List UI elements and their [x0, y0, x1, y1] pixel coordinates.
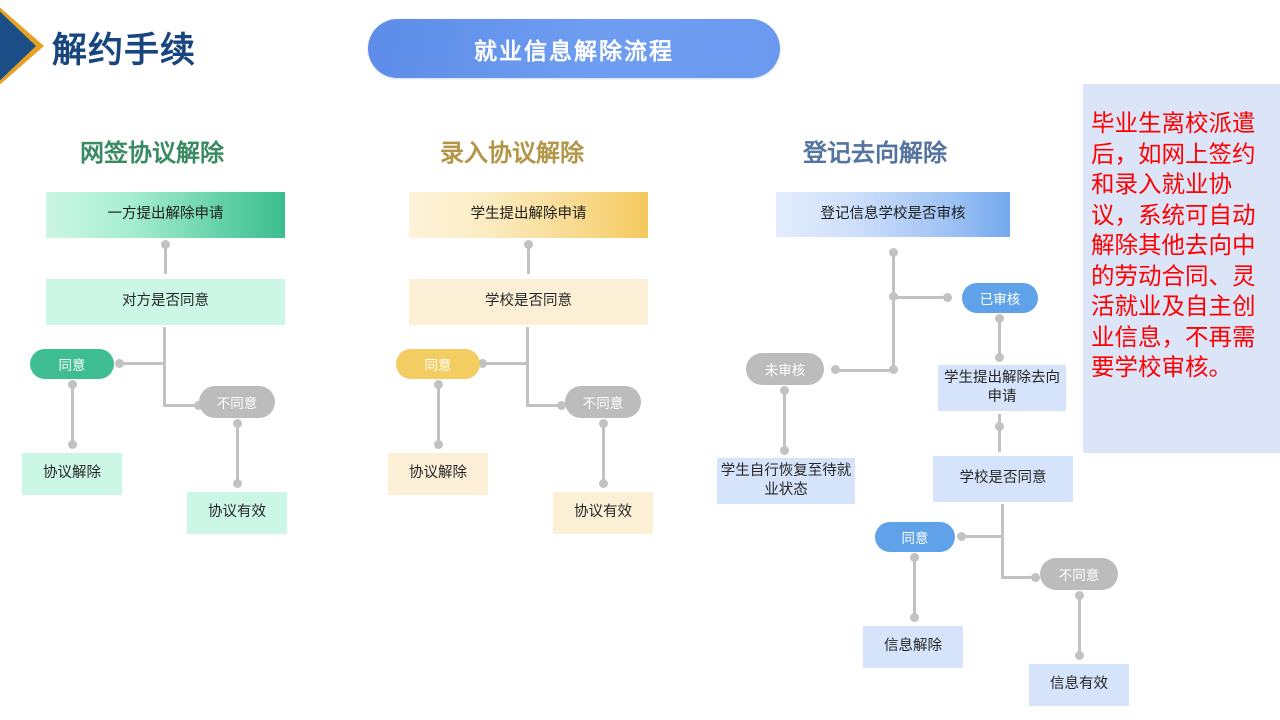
connector-dengji-disagree-down — [1078, 594, 1081, 656]
connector-dot — [161, 240, 170, 249]
node-wangqian-disagree: 不同意 — [199, 386, 275, 418]
connector-luru-agree — [483, 362, 528, 365]
node-dengji-reviewed: 已审核 — [962, 283, 1038, 313]
column-title-luru: 录入协议解除 — [440, 133, 584, 168]
connector-dot — [957, 532, 966, 541]
connector-luru-disagree-down — [602, 422, 605, 484]
node-wangqian-agree: 同意 — [30, 349, 114, 379]
node-luru-agree-result: 协议解除 — [388, 453, 488, 495]
node-dengji-apply: 学生提出解除去向申请 — [938, 365, 1066, 411]
connector-dot — [524, 240, 533, 249]
node-dengji-start: 登记信息学校是否审核 — [776, 192, 1010, 237]
node-wangqian-start: 一方提出解除申请 — [46, 192, 285, 238]
node-dengji-not-reviewed-result: 学生自行恢复至待就业状态 — [717, 458, 855, 504]
connector-dot — [995, 353, 1004, 362]
node-luru-decision: 学校是否同意 — [409, 279, 648, 325]
connector-wangqian-agree-down — [71, 383, 74, 445]
connector-dot — [780, 446, 789, 455]
node-wangqian-agree-result: 协议解除 — [22, 453, 122, 495]
column-title-dengji: 登记去向解除 — [803, 133, 947, 168]
slide-canvas: 解约手续 就业信息解除流程 网签协议解除 一方提出解除申请 对方是否同意 同意 … — [0, 0, 1280, 720]
connector-dot — [1075, 651, 1084, 660]
connector-dengji-notreviewed-down — [783, 389, 786, 451]
connector-luru-trunk — [526, 327, 529, 407]
node-wangqian-disagree-result: 协议有效 — [187, 492, 287, 534]
connector-dot — [434, 380, 443, 389]
connector-dot — [889, 248, 898, 257]
connector-dot — [831, 365, 840, 374]
node-luru-start: 学生提出解除申请 — [409, 192, 648, 238]
connector-dengji-2 — [998, 414, 1001, 452]
connector-dot — [995, 314, 1004, 323]
connector-dot — [233, 479, 242, 488]
connector-dengji-trunk — [892, 250, 895, 370]
connector-dot — [943, 293, 952, 302]
connector-dengji-trunk2 — [1001, 504, 1004, 579]
connector-wangqian-agree — [120, 362, 165, 365]
connector-dot — [599, 479, 608, 488]
connector-dengji-notreviewed — [836, 369, 894, 372]
connector-dot — [995, 422, 1004, 431]
column-title-wangqian: 网签协议解除 — [80, 133, 224, 168]
connector-dot — [68, 440, 77, 449]
connector-dot — [68, 380, 77, 389]
connector-dengji-reviewed — [892, 296, 948, 299]
connector-dengji-reviewed-down — [998, 317, 1001, 358]
node-luru-disagree: 不同意 — [565, 386, 641, 418]
connector-wangqian-disagree-down — [236, 422, 239, 484]
node-dengji-disagree-result: 信息有效 — [1029, 664, 1129, 706]
connector-dot — [780, 386, 789, 395]
connector-dot — [115, 359, 124, 368]
node-dengji-not-reviewed: 未审核 — [746, 353, 824, 385]
connector-dot — [910, 553, 919, 562]
page-title: 解约手续 — [52, 22, 196, 73]
connector-dengji-agree-down — [913, 556, 916, 618]
connector-wangqian-trunk — [163, 327, 166, 407]
flow-title-pill: 就业信息解除流程 — [368, 19, 780, 78]
node-dengji-agree: 同意 — [875, 522, 955, 552]
connector-dot — [910, 613, 919, 622]
connector-dot — [233, 419, 242, 428]
connector-dot — [1031, 573, 1040, 582]
node-dengji-disagree: 不同意 — [1040, 558, 1118, 590]
note-box: 毕业生离校派遣后，如网上签约和录入就业协议，系统可自动解除其他去向中的劳动合同、… — [1083, 84, 1280, 453]
connector-dot — [1075, 591, 1084, 600]
connector-dengji-agree — [962, 535, 1004, 538]
connector-dot — [434, 440, 443, 449]
connector-dot — [599, 419, 608, 428]
node-dengji-decision: 学校是否同意 — [933, 456, 1073, 502]
node-wangqian-decision: 对方是否同意 — [46, 279, 285, 325]
node-luru-disagree-result: 协议有效 — [553, 492, 653, 534]
node-luru-agree: 同意 — [396, 349, 480, 379]
note-text: 毕业生离校派遣后，如网上签约和录入就业协议，系统可自动解除其他去向中的劳动合同、… — [1091, 108, 1274, 383]
node-dengji-agree-result: 信息解除 — [863, 626, 963, 668]
connector-luru-agree-down — [437, 383, 440, 445]
flow-title-label: 就业信息解除流程 — [474, 32, 674, 66]
